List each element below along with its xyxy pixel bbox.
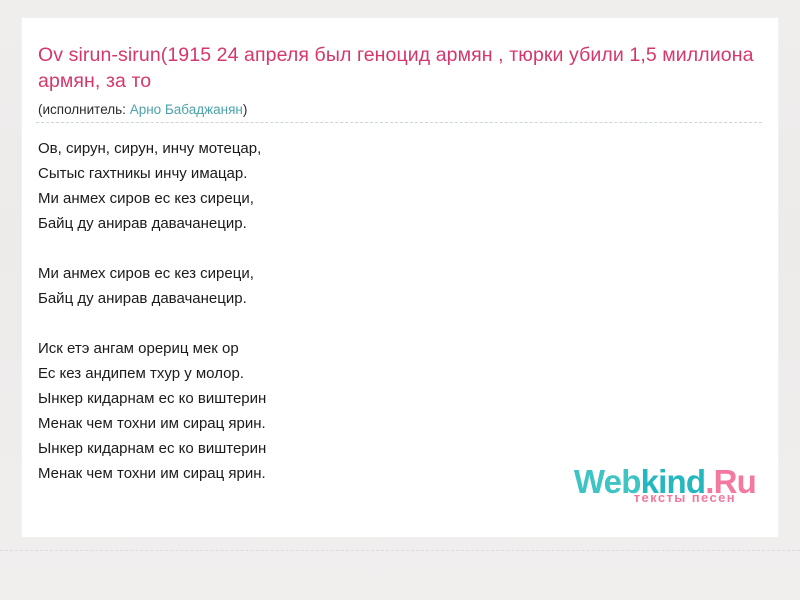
lyrics-card: Ov sirun-sirun(1915 24 апреля был геноци…: [22, 18, 778, 537]
card-content: Ov sirun-sirun(1915 24 апреля был геноци…: [22, 18, 778, 537]
lyrics-line: Ми анмех сиров ес кез сиреци,: [38, 261, 738, 286]
logo-tagline: тексты песен: [546, 490, 736, 505]
lyrics-stanza: Ми анмех сиров ес кез сиреци, Байц ду ан…: [38, 261, 738, 311]
lyrics-line: Байц ду анирав давачанецир.: [38, 211, 738, 236]
performer-link[interactable]: Арно Бабаджанян: [130, 102, 243, 117]
performer-label: (исполнитель:: [38, 102, 126, 117]
site-logo[interactable]: Webkind.Ru тексты песен: [546, 465, 756, 513]
lyrics-line: Сытыс гахтникы инчу имацар.: [38, 161, 738, 186]
lyrics-line: Ми анмех сиров ес кез сиреци,: [38, 186, 738, 211]
performer-line: (исполнитель: Арно Бабаджанян): [38, 101, 247, 119]
page-title: Ov sirun-sirun(1915 24 апреля был геноци…: [38, 42, 754, 94]
lyrics-stanza: Ов, сирун, сирун, инчу мотецар, Сытыс га…: [38, 136, 738, 236]
lyrics-line: Иск етэ ангам орериц мек ор: [38, 336, 738, 361]
header-separator: [36, 122, 762, 123]
lyrics-line: Ес кез андипем тхур у молор.: [38, 361, 738, 386]
lyrics-line: Ынкер кидарнам ес ко виштерин: [38, 436, 738, 461]
lyrics-line: Байц ду анирав давачанецир.: [38, 286, 738, 311]
performer-close-paren: ): [243, 102, 248, 117]
lyrics-body: Ов, сирун, сирун, инчу мотецар, Сытыс га…: [38, 136, 738, 486]
lyrics-line: Ынкер кидарнам ес ко виштерин: [38, 386, 738, 411]
page-bottom-divider: [0, 550, 800, 551]
lyrics-line: Менак чем тохни им сирац ярин.: [38, 411, 738, 436]
lyrics-line: Ов, сирун, сирун, инчу мотецар,: [38, 136, 738, 161]
